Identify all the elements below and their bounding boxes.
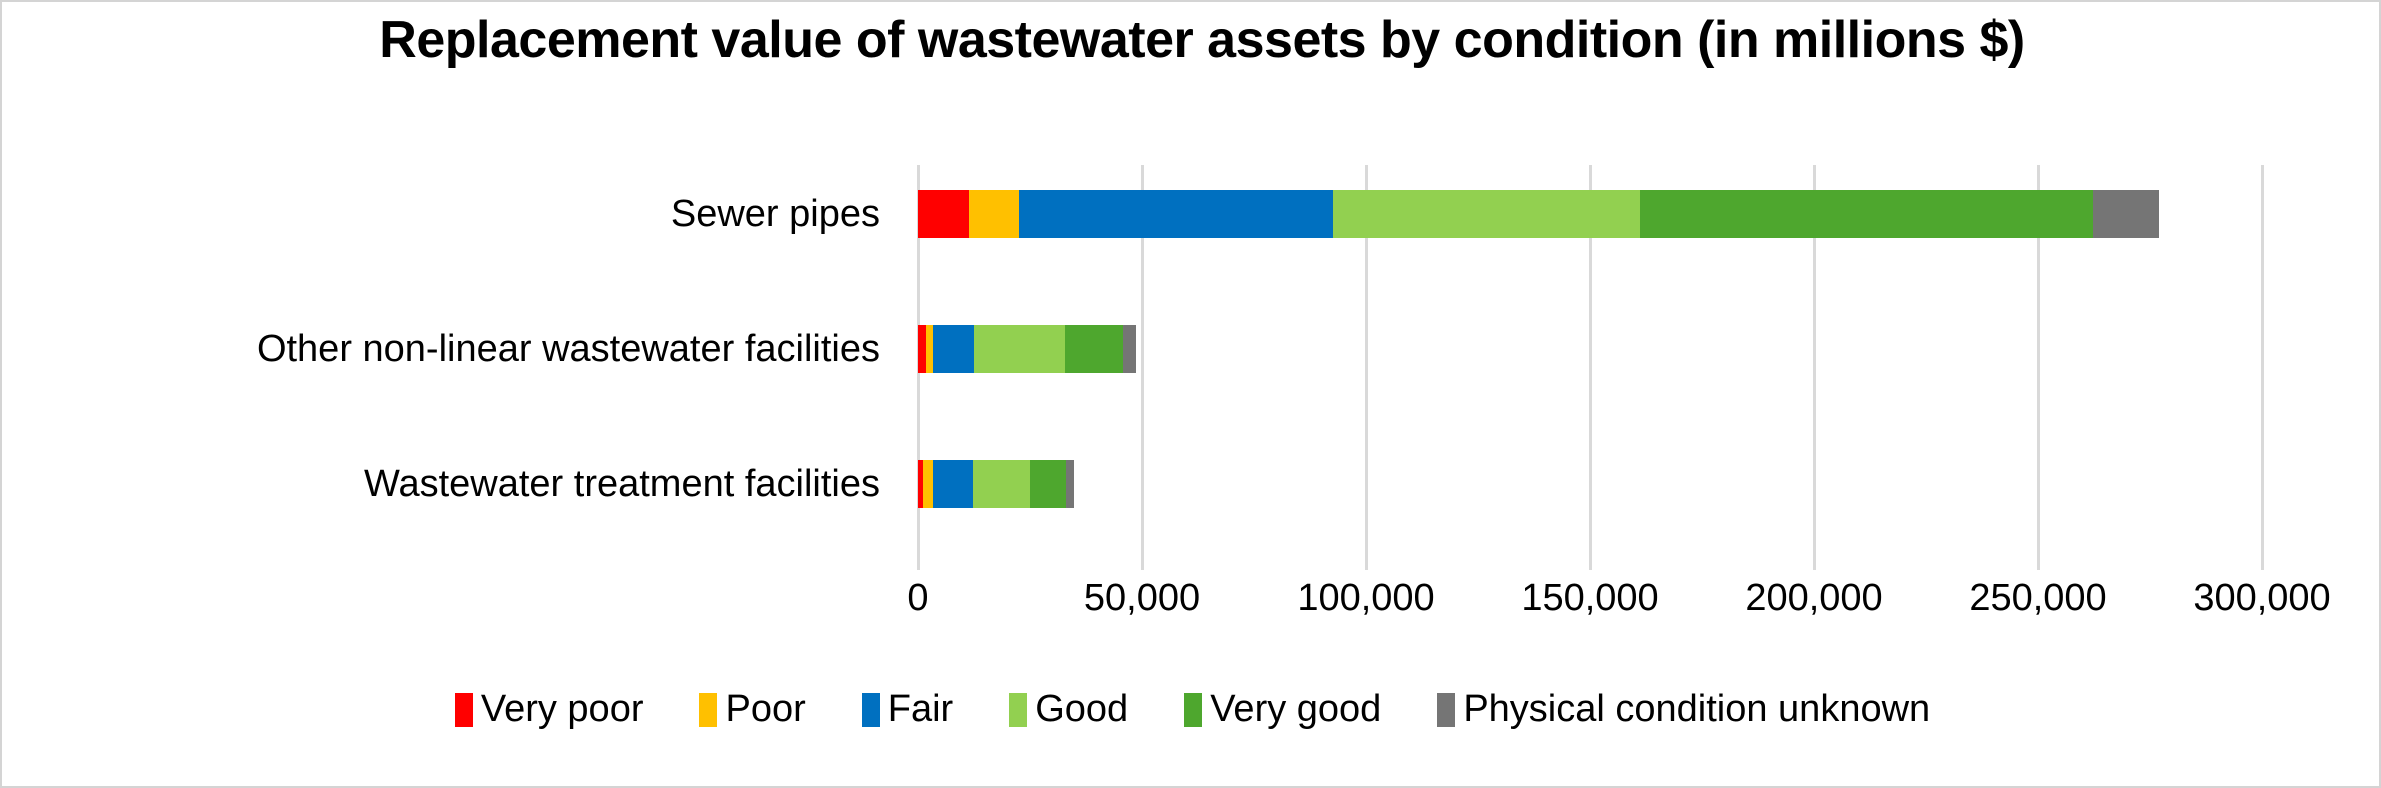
x-tick-label: 100,000: [1297, 577, 1434, 620]
x-tick-label: 200,000: [1745, 577, 1882, 620]
y-axis-label: Sewer pipes: [2, 190, 880, 238]
y-axis-label: Wastewater treatment facilities: [2, 460, 880, 508]
x-axis-tick-labels: 050,000100,000150,000200,000250,000300,0…: [918, 577, 2262, 627]
bar-segment[interactable]: [969, 190, 1019, 238]
bar-segment[interactable]: [1030, 460, 1066, 508]
legend-item[interactable]: Poor: [699, 688, 805, 731]
gridline-300000: [2261, 165, 2264, 570]
legend-label: Poor: [725, 688, 805, 731]
bar-segment[interactable]: [1640, 190, 2093, 238]
legend-label: Very poor: [481, 688, 644, 731]
bar-segment[interactable]: [1333, 190, 1640, 238]
legend-swatch-icon: [455, 693, 473, 727]
legend-label: Good: [1035, 688, 1128, 731]
y-axis-label: Other non-linear wastewater facilities: [2, 325, 880, 373]
x-tick-label: 150,000: [1521, 577, 1658, 620]
plot-area: [918, 165, 2262, 570]
bar-segment[interactable]: [973, 460, 1030, 508]
bar-segment[interactable]: [933, 460, 973, 508]
legend-item[interactable]: Very poor: [455, 688, 644, 731]
bar-segment[interactable]: [1065, 325, 1123, 373]
bar-segment[interactable]: [933, 325, 974, 373]
x-tick-label: 300,000: [2193, 577, 2330, 620]
legend-label: Fair: [888, 688, 953, 731]
bar-row[interactable]: [918, 460, 1074, 508]
bar-row[interactable]: [918, 325, 1136, 373]
bar-segment[interactable]: [974, 325, 1065, 373]
bar-segment[interactable]: [918, 325, 926, 373]
legend-swatch-icon: [1009, 693, 1027, 727]
bar-segment[interactable]: [926, 325, 933, 373]
legend-label: Physical condition unknown: [1463, 688, 1930, 731]
chart-title: Replacement value of wastewater assets b…: [302, 12, 2102, 68]
bar-segment[interactable]: [1019, 190, 1333, 238]
legend-item[interactable]: Good: [1009, 688, 1128, 731]
bar-segment[interactable]: [2093, 190, 2159, 238]
legend-item[interactable]: Fair: [862, 688, 953, 731]
legend-swatch-icon: [1437, 693, 1455, 727]
bar-segment[interactable]: [923, 460, 933, 508]
chart-figure: Replacement value of wastewater assets b…: [0, 0, 2381, 788]
legend-label: Very good: [1210, 688, 1381, 731]
chart-legend: Very poorPoorFairGoodVery goodPhysical c…: [2, 688, 2381, 731]
legend-swatch-icon: [862, 693, 880, 727]
legend-swatch-icon: [699, 693, 717, 727]
bar-row[interactable]: [918, 190, 2159, 238]
bar-segment[interactable]: [1066, 460, 1074, 508]
legend-item[interactable]: Very good: [1184, 688, 1381, 731]
legend-item[interactable]: Physical condition unknown: [1437, 688, 1930, 731]
legend-swatch-icon: [1184, 693, 1202, 727]
x-tick-label: 250,000: [1969, 577, 2106, 620]
bar-segment[interactable]: [1123, 325, 1136, 373]
x-tick-label: 50,000: [1084, 577, 1200, 620]
y-axis-category-labels: Sewer pipesOther non-linear wastewater f…: [2, 165, 898, 570]
x-tick-label: 0: [907, 577, 928, 620]
bar-segment[interactable]: [918, 190, 969, 238]
